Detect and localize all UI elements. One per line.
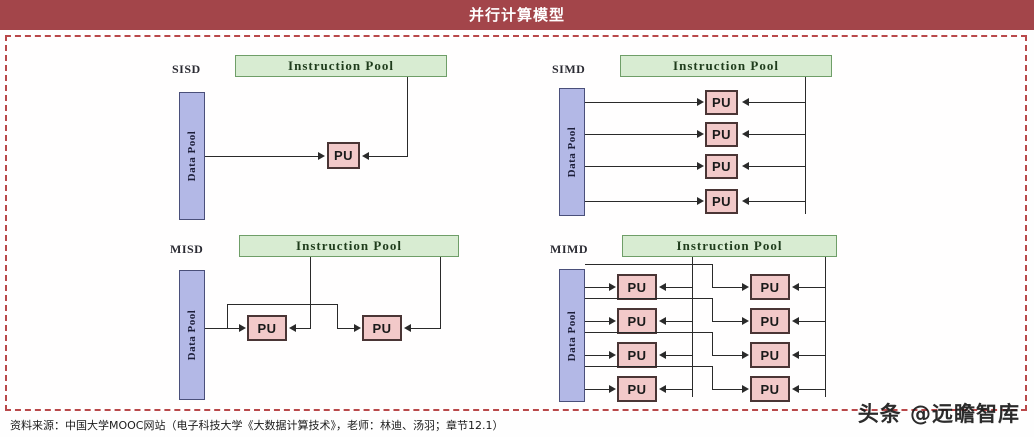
mimd-instruction-arrowhead-r4c2 [792,385,799,393]
mimd-instruction-line-r4c1 [666,389,693,390]
misd-bridge-right-drop [337,304,338,329]
misd-data-arrowhead-in [239,324,246,332]
misd-data-pool-label: Data Pool [186,310,198,361]
mimd-data-pool-label: Data Pool [566,310,578,361]
mimd-instruction-pool: Instruction Pool [622,235,837,257]
mimd-bridge-drop-r4 [712,366,713,389]
mimd-mode-label: MIMD [550,242,588,257]
misd-data-pool: Data Pool [179,270,205,400]
mimd-bridge-top-r4 [585,366,712,367]
mimd-data-arrowhead-r1 [609,283,616,291]
sisd-instruction-bus-vertical [407,77,408,156]
mimd-bridge-top-r2 [585,298,712,299]
mimd-bridge-top-r1 [585,264,712,265]
simd-data-arrowhead-4 [697,197,704,205]
mimd-instruction-arrowhead-r3c1 [659,351,666,359]
mimd-instruction-line-r2c2 [799,321,826,322]
mimd-data-arrowhead-r4 [609,385,616,393]
mimd-pu-r4c2: PU [750,376,790,402]
mimd-instruction-line-r3c2 [799,355,826,356]
simd-instruction-line-2 [749,134,806,135]
misd-bridge-into-pu2 [337,328,354,329]
sisd-data-pool-label: Data Pool [186,131,198,182]
misd-pu-2: PU [362,315,402,341]
mimd-bridge-arrowhead-r3 [742,351,749,359]
title-bar: 并行计算模型 [0,0,1034,30]
diagram-mimd: MIMD Instruction Pool Data Pool PU PU PU… [542,232,882,402]
sisd-instruction-arrowhead [362,152,369,160]
misd-bridge-arrowhead [354,324,361,332]
mimd-data-arrowhead-r3 [609,351,616,359]
source-note: 资料来源：中国大学MOOC网站（电子科技大学《大数据计算技术》，老师：林迪、汤羽… [10,417,503,433]
simd-pu-2: PU [705,122,738,147]
simd-mode-label: SIMD [552,62,585,77]
mimd-bridge-arrowhead-r1 [742,283,749,291]
mimd-bridge-arrowhead-r4 [742,385,749,393]
misd-instruction-bus-1 [310,257,311,328]
mimd-pu-r3c1: PU [617,342,657,368]
sisd-mode-label: SISD [172,62,201,77]
sisd-data-line [205,156,318,157]
simd-data-line-4 [585,201,697,202]
misd-instruction-arrowhead-2 [404,324,411,332]
misd-bridge-left-riser [227,304,228,329]
mimd-bridge-drop-r2 [712,298,713,321]
content-frame: SISD Instruction Pool Data Pool PU SIMD … [5,35,1027,411]
mimd-instruction-arrowhead-r2c2 [792,317,799,325]
diagram-misd: MISD Instruction Pool Data Pool PU PU [162,232,502,402]
simd-instruction-bus-vertical [805,77,806,214]
sisd-instruction-pool: Instruction Pool [235,55,447,77]
mimd-data-pool: Data Pool [559,269,585,402]
mimd-bridge-drop-r1 [712,264,713,287]
simd-pu-3: PU [705,154,738,179]
mimd-instruction-line-r1c2 [799,287,826,288]
misd-mode-label: MISD [170,242,203,257]
mimd-instruction-line-r3c1 [666,355,693,356]
page-title: 并行计算模型 [0,0,1034,30]
mimd-instruction-arrowhead-r1c2 [792,283,799,291]
sisd-data-pool: Data Pool [179,92,205,220]
mimd-pu-r1c2: PU [750,274,790,300]
diagram-sisd: SISD Instruction Pool Data Pool PU [162,52,482,217]
misd-instruction-line-2 [411,328,441,329]
mimd-instruction-arrowhead-r3c2 [792,351,799,359]
mimd-data-line-r2 [585,321,609,322]
diagram-simd: SIMD Instruction Pool Data Pool PU PU PU… [542,52,872,227]
mimd-instruction-line-r1c1 [666,287,693,288]
mimd-bridge-top-r3 [585,332,712,333]
sisd-data-arrowhead [318,152,325,160]
simd-pu-1: PU [705,90,738,115]
misd-bridge-top [227,304,337,305]
mimd-instruction-arrowhead-r2c1 [659,317,666,325]
simd-instruction-line-3 [749,166,806,167]
simd-instruction-line-4 [749,201,806,202]
misd-instruction-arrowhead-1 [289,324,296,332]
watermark: 头条 @远瞻智库 [858,398,1020,428]
mimd-instruction-arrowhead-r1c1 [659,283,666,291]
simd-data-arrowhead-3 [697,162,704,170]
mimd-bridge-arrowhead-r2 [742,317,749,325]
sisd-pu-1: PU [327,142,360,169]
mimd-bridge-in-r2 [712,321,742,322]
mimd-pu-r4c1: PU [617,376,657,402]
simd-instruction-arrowhead-2 [742,130,749,138]
simd-instruction-pool: Instruction Pool [620,55,832,77]
mimd-instruction-line-r4c2 [799,389,826,390]
simd-instruction-arrowhead-4 [742,197,749,205]
mimd-data-line-r1 [585,287,609,288]
simd-data-pool-label: Data Pool [566,127,578,178]
misd-instruction-bus-2 [440,257,441,328]
simd-data-arrowhead-2 [697,130,704,138]
mimd-bridge-in-r1 [712,287,742,288]
mimd-instruction-line-r2c1 [666,321,693,322]
simd-data-arrowhead-1 [697,98,704,106]
misd-instruction-pool: Instruction Pool [239,235,459,257]
simd-instruction-arrowhead-3 [742,162,749,170]
mimd-bridge-in-r3 [712,355,742,356]
mimd-instruction-bus-right [825,257,826,397]
misd-instruction-line-1 [296,328,311,329]
mimd-pu-r3c2: PU [750,342,790,368]
mimd-bridge-drop-r3 [712,332,713,355]
misd-pu-1: PU [247,315,287,341]
mimd-instruction-arrowhead-r4c1 [659,385,666,393]
mimd-bridge-in-r4 [712,389,742,390]
mimd-pu-r2c2: PU [750,308,790,334]
mimd-data-line-r3 [585,355,609,356]
simd-instruction-line-1 [749,102,806,103]
mimd-pu-r1c1: PU [617,274,657,300]
simd-pu-4: PU [705,189,738,214]
simd-data-pool: Data Pool [559,88,585,216]
sisd-instruction-bus-horizontal [369,156,408,157]
mimd-data-arrowhead-r2 [609,317,616,325]
simd-data-line-2 [585,134,697,135]
mimd-pu-r2c1: PU [617,308,657,334]
simd-data-line-1 [585,102,697,103]
mimd-data-line-r4 [585,389,609,390]
simd-data-line-3 [585,166,697,167]
simd-instruction-arrowhead-1 [742,98,749,106]
mimd-instruction-bus-center [692,257,693,397]
misd-data-line-in [205,328,239,329]
